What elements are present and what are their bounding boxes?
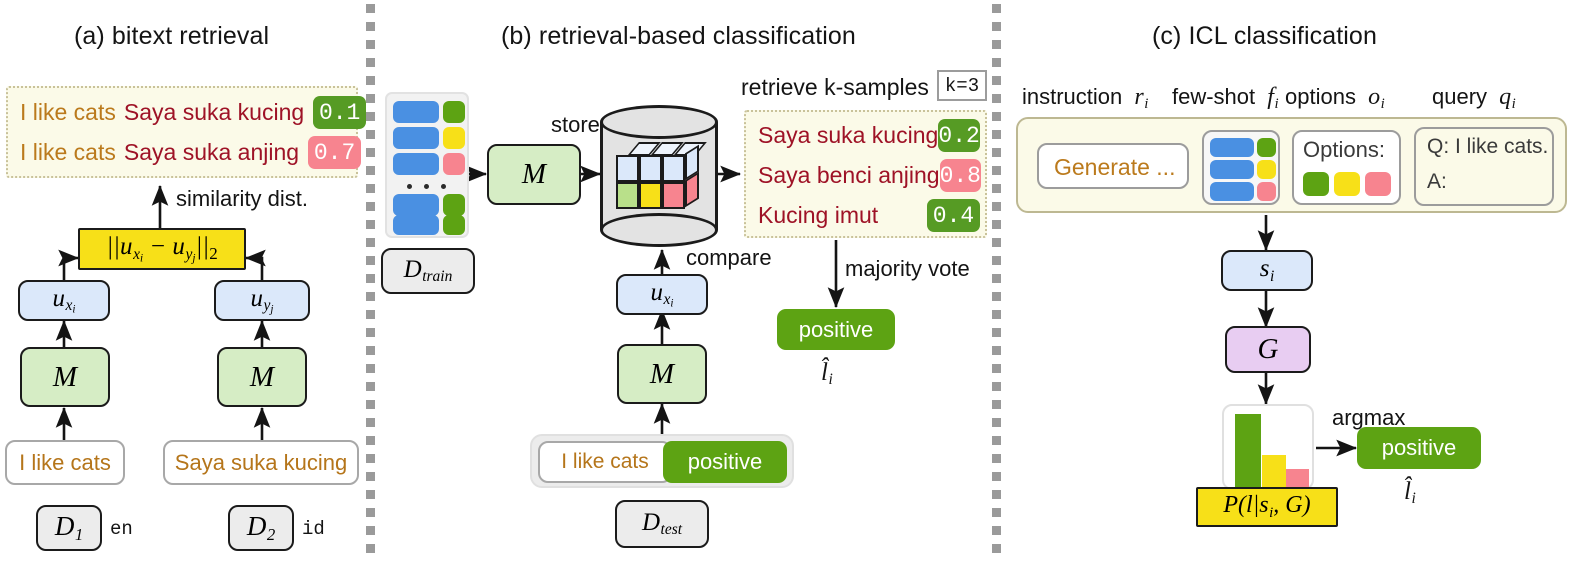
test-label-pill: positive [663, 441, 787, 483]
figure-root: (a) bitext retrieval I like cats Saya su… [0, 0, 1581, 565]
model-box-left: M [20, 347, 110, 407]
retrieved-text: Saya suka kucing [758, 122, 938, 149]
embedding-ux-text: uxi [53, 285, 76, 316]
retrieved-score-badge: 0.4 [927, 199, 980, 232]
dataset-d2-box: D2 [228, 505, 294, 551]
probability-formula-box: P(l|si, G) [1196, 487, 1338, 527]
cube-cell [662, 182, 685, 209]
cube-cell [616, 182, 639, 209]
store-label: store [551, 112, 600, 138]
bar-neutral [1262, 455, 1286, 488]
model-box-right: M [217, 347, 307, 407]
model-label: M [650, 358, 674, 391]
embedding-uy-box: uyj [214, 280, 310, 321]
result-source-text: I like cats [20, 99, 116, 126]
test-example-container: I like cats positive [530, 434, 794, 488]
dataset-dtrain-box: Dtrain [381, 248, 475, 294]
cube-cell [639, 155, 662, 182]
dataset-dtrain-text: Dtrain [404, 256, 453, 286]
fewshot-label-chip [1257, 182, 1276, 201]
train-label-chip [443, 215, 465, 235]
sequence-text: si [1260, 255, 1275, 285]
train-text-chip [393, 194, 439, 216]
retrieve-k-samples-label: retrieve k-samples [741, 74, 929, 101]
dataset-d2-text: D2 [247, 511, 275, 545]
train-text-chip [393, 127, 439, 149]
retrieved-score-badge: 0.8 [940, 159, 981, 192]
prediction-pill-c: positive [1357, 427, 1481, 469]
retrieved-text: Kucing imut [758, 202, 878, 229]
lang-tag-en: en [110, 518, 133, 540]
panel-divider-ab [366, 4, 375, 561]
prompt-header-query: query qi [1432, 84, 1516, 113]
compare-label: compare [686, 245, 772, 271]
panel-divider-bc [992, 4, 1001, 561]
result-target-text: Saya suka anjing [124, 139, 299, 166]
fewshot-text-chip [1210, 138, 1254, 157]
prompt-header-fewshot: few-shot fi [1172, 84, 1279, 113]
model-label: M [53, 361, 77, 394]
result-score-badge: 0.7 [308, 136, 361, 169]
train-label-chip [443, 194, 465, 216]
panel-c-title: (c) ICL classification [1152, 22, 1377, 51]
fewshot-label-chip [1257, 138, 1276, 157]
fewshot-label-chip [1257, 160, 1276, 179]
instruction-text: Generate ... [1054, 154, 1175, 181]
query-line-1: Q: I like cats. [1427, 135, 1548, 159]
bar-positive [1235, 414, 1261, 488]
retrieved-score-badge: 0.2 [938, 119, 980, 152]
prediction-symbol-b: l̂i [821, 358, 833, 389]
probability-formula-text: P(l|si, G) [1223, 492, 1310, 521]
prediction-symbol-c: l̂i [1404, 477, 1416, 508]
similarity-distance-label: similarity dist. [176, 186, 308, 212]
panel-a-results: I like cats Saya suka kucing 0.1 I like … [6, 86, 358, 178]
similarity-formula-box: ||uxi − uyj||2 [78, 228, 246, 270]
dataset-d1-box: D1 [36, 505, 102, 551]
panel-b-title: (b) retrieval-based classification [501, 22, 856, 51]
model-label: M [522, 158, 546, 191]
source-sentence-box: I like cats [5, 440, 125, 485]
test-embedding-text: uxi [651, 279, 674, 310]
train-label-chip [443, 127, 465, 149]
probability-bar-chart [1222, 404, 1314, 490]
train-text-chip [393, 101, 439, 123]
result-score-badge: 0.1 [313, 96, 366, 129]
instruction-box: Generate ... [1037, 143, 1189, 189]
result-source-text: I like cats [20, 139, 116, 166]
majority-vote-label: majority vote [845, 256, 970, 282]
generator-text: G [1258, 333, 1279, 366]
option-chip-green [1303, 172, 1329, 196]
similarity-formula-text: ||uxi − uyj||2 [106, 233, 217, 264]
train-label-chip [443, 101, 465, 123]
bar-negative [1286, 469, 1309, 488]
model-box-test: M [617, 344, 707, 404]
train-label-chip [443, 153, 465, 175]
prompt-header-options: options oi [1285, 84, 1385, 113]
option-chip-pink [1365, 172, 1391, 196]
retrieved-samples-panel: Saya suka kucing 0.2 Saya benci anjing 0… [744, 110, 987, 238]
embedding-ux-box: uxi [18, 280, 110, 321]
cube-cell [616, 155, 639, 182]
k-value-chip: k=3 [937, 70, 987, 101]
fewshot-text-chip [1210, 160, 1254, 179]
model-box-train: M [487, 144, 581, 205]
retrieved-row: Saya suka kucing 0.2 [758, 119, 980, 152]
panel-a-title: (a) bitext retrieval [74, 22, 269, 51]
prediction-pill-b: positive [777, 309, 895, 350]
cube-cell [662, 155, 685, 182]
retrieved-text: Saya benci anjing [758, 162, 940, 189]
dataset-d1-text: D1 [55, 511, 83, 545]
train-text-chip [393, 215, 439, 235]
options-label: Options: [1303, 137, 1385, 163]
retrieved-row: Kucing imut 0.4 [758, 199, 980, 232]
fewshot-box [1202, 130, 1280, 205]
test-embedding-box: uxi [616, 274, 708, 315]
result-row: I like cats Saya suka kucing 0.1 [20, 96, 366, 129]
retrieved-row: Saya benci anjing 0.8 [758, 159, 980, 192]
options-box: Options: [1292, 130, 1401, 205]
query-line-2: A: [1427, 170, 1447, 194]
train-text-chip [393, 153, 439, 175]
cube-cell [639, 182, 662, 209]
icl-prompt-bar: Generate ... Options: Q: I like cats. A: [1016, 117, 1567, 213]
embedding-uy-text: uyj [251, 285, 274, 316]
model-label: M [250, 361, 274, 394]
dataset-dtest-box: Dtest [615, 500, 709, 548]
train-sample-stack [385, 92, 469, 238]
sequence-box: si [1221, 250, 1313, 291]
dataset-dtest-text: Dtest [642, 509, 682, 539]
fewshot-text-chip [1210, 182, 1254, 201]
result-row: I like cats Saya suka anjing 0.7 [20, 136, 361, 169]
prompt-header-instruction: instruction ri [1022, 84, 1148, 113]
target-sentence-box: Saya suka kucing [163, 440, 359, 485]
query-box: Q: I like cats. A: [1414, 127, 1554, 206]
test-sentence-box: I like cats [538, 441, 672, 483]
lang-tag-id: id [302, 518, 325, 540]
ellipsis-dots [397, 178, 455, 194]
option-chip-yellow [1334, 172, 1360, 196]
generator-box: G [1225, 326, 1311, 373]
result-target-text: Saya suka kucing [124, 99, 304, 126]
